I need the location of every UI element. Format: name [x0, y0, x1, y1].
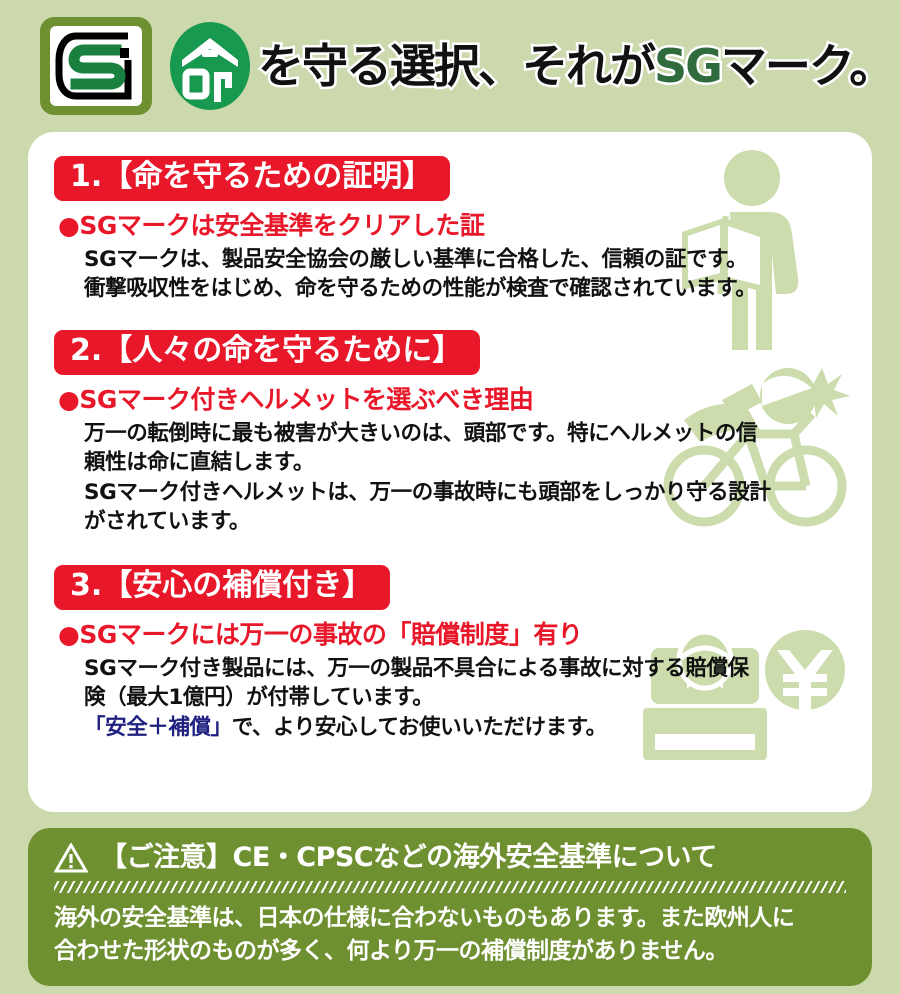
notice-body-line: 合わせた形状のものが多く、何より万一の補償制度がありません。: [54, 935, 846, 968]
notice-body: 海外の安全基準は、日本の仕様に合わないものもあります。また欧州人に 合わせた形状…: [54, 902, 846, 967]
sg-logo-inner: [50, 26, 142, 106]
section-2-body-line: がされています。: [84, 507, 872, 537]
section-2-body-line: 万一の転倒時に最も被害が大きいのは、頭部です。特にヘルメットの信: [84, 419, 872, 449]
inochi-badge: [168, 20, 252, 112]
notice-header: 【ご注意】CE・CPSCなどの海外安全基準について: [54, 842, 846, 874]
sg-logo: [40, 17, 152, 115]
section-1-bullet: ●SGマークは安全基準をクリアした証: [58, 211, 872, 241]
section-1-badge: 1.【命を守るための証明】: [54, 156, 450, 201]
notice-box: 【ご注意】CE・CPSCなどの海外安全基準について 海外の安全基準は、日本の仕様…: [28, 828, 872, 986]
section-1-body-line: 衝撃吸収性をはじめ、命を守るための性能が検査で確認されています。: [84, 274, 872, 304]
notice-body-line: 海外の安全基準は、日本の仕様に合わないものもあります。また欧州人に: [54, 902, 846, 935]
headline-post: マーク。: [721, 39, 893, 93]
safety-compensation-phrase: 「安全＋補償」: [84, 715, 232, 740]
notice-divider: [54, 881, 846, 893]
safety-compensation-tail: で、より安心してお使いいただけます。: [232, 715, 607, 740]
section-3-bullet: ●SGマークには万一の事故の「賠償制度」有り: [58, 620, 872, 650]
section-2-body-line: SGマーク付きヘルメットは、万一の事故時にも頭部をしっかり守る設計: [84, 478, 872, 508]
inochi-circle-icon: [168, 20, 252, 112]
section-1: 1.【命を守るための証明】 ●SGマークは安全基準をクリアした証 SGマークは、…: [28, 156, 872, 304]
notice-title: 【ご注意】CE・CPSCなどの海外安全基準について: [100, 842, 717, 874]
content-card: 1.【命を守るための証明】 ●SGマークは安全基準をクリアした証 SGマークは、…: [28, 132, 872, 812]
section-3-body-line: SGマーク付き製品には、万一の製品不具合による事故に対する賠償保: [84, 654, 872, 684]
section-3-body-line-highlight: 「安全＋補償」で、より安心してお使いいただけます。: [84, 713, 872, 743]
section-2-body: 万一の転倒時に最も被害が大きいのは、頭部です。特にヘルメットの信 頼性は命に直結…: [84, 419, 872, 538]
page-header: を守る選択、それがSGマーク。: [0, 0, 900, 132]
section-2: 2.【人々の命を守るために】 ●SGマーク付きヘルメットを選ぶべき理由 万一の転…: [28, 330, 872, 537]
section-1-body-line: SGマークは、製品安全協会の厳しい基準に合格した、信頼の証です。: [84, 245, 872, 275]
warning-triangle-icon: [54, 843, 88, 873]
section-2-badge: 2.【人々の命を守るために】: [54, 330, 480, 375]
headline-sg: SG: [654, 39, 721, 93]
section-3-badge: 3.【安心の補償付き】: [54, 565, 390, 610]
section-2-body-line: 頼性は命に直結します。: [84, 448, 872, 478]
section-3-body-line: 険（最大1億円）が付帯しています。: [84, 683, 872, 713]
section-1-body: SGマークは、製品安全協会の厳しい基準に合格した、信頼の証です。 衝撃吸収性をは…: [84, 245, 872, 304]
section-3: 3.【安心の補償付き】 ●SGマークには万一の事故の「賠償制度」有り SGマーク…: [28, 565, 872, 743]
sg-logo-icon: [54, 30, 138, 102]
headline-pre: を守る選択、それが: [258, 39, 654, 93]
headline: を守る選択、それがSGマーク。: [258, 43, 893, 89]
section-2-bullet: ●SGマーク付きヘルメットを選ぶべき理由: [58, 385, 872, 415]
section-3-body: SGマーク付き製品には、万一の製品不具合による事故に対する賠償保 険（最大1億円…: [84, 654, 872, 743]
